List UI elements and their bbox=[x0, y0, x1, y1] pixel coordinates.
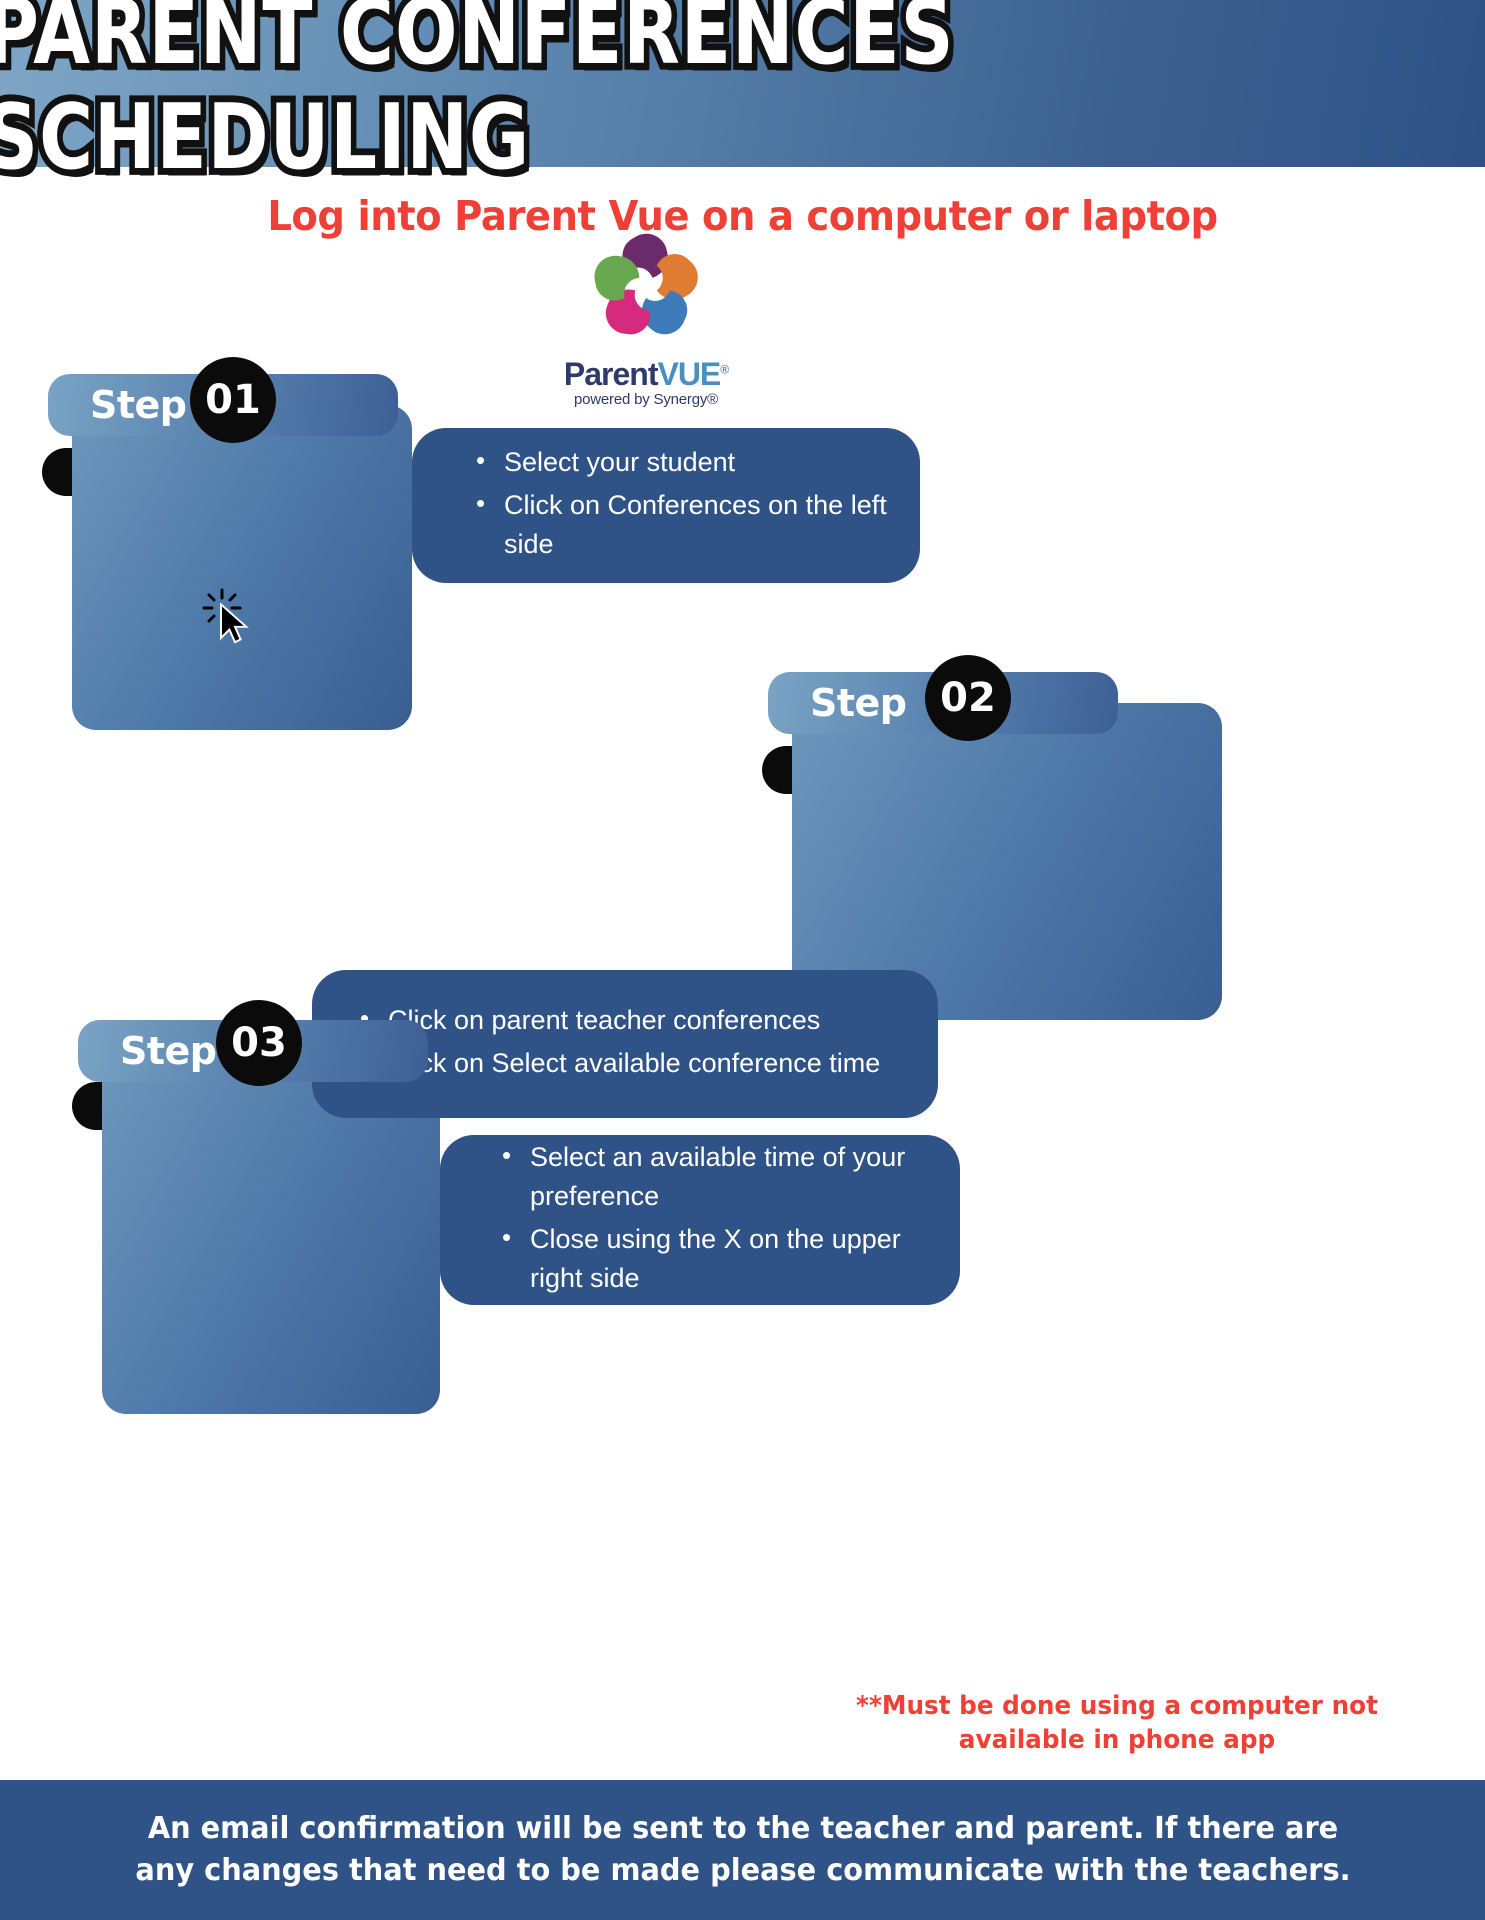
step-3-label: Step bbox=[120, 1029, 217, 1073]
step-3-bullet-2: Close using the X on the upper right sid… bbox=[502, 1220, 960, 1298]
step-3-number: 03 bbox=[231, 1020, 287, 1066]
page-title: PARENT CONFERENCES SCHEDULING bbox=[0, 0, 1485, 189]
step-3-bullet-1: Select an available time of your prefere… bbox=[502, 1138, 960, 1216]
step-1-callout: Select your student Click on Conferences… bbox=[412, 428, 920, 583]
footer-banner: An email confirmation will be sent to th… bbox=[0, 1780, 1485, 1920]
step-2-bullet-1: Click on parent teacher conferences bbox=[360, 1001, 880, 1040]
step-1-card bbox=[72, 405, 412, 730]
step-3-bullets: Select an available time of your prefere… bbox=[502, 1138, 960, 1303]
logo-word-parent: Parent bbox=[564, 356, 658, 392]
logo-tagline: powered by Synergy® bbox=[556, 391, 736, 408]
logo-word-vue: VUE bbox=[657, 356, 720, 392]
warning-note: **Must be done using a computer not avai… bbox=[804, 1690, 1431, 1758]
step-2-bullet-2: Click on Select available conference tim… bbox=[360, 1044, 880, 1083]
step-2-bullets: Click on parent teacher conferences Clic… bbox=[360, 1001, 880, 1087]
step-1-label: Step bbox=[90, 383, 187, 427]
step-2-number: 02 bbox=[940, 675, 996, 721]
step-1-bullet-2: Click on Conferences on the left side bbox=[476, 486, 920, 564]
step-1-badge: 01 bbox=[190, 357, 276, 443]
step-2-badge: 02 bbox=[925, 655, 1011, 741]
step-1-bullet-1: Select your student bbox=[476, 443, 920, 482]
logo-registered-mark: ® bbox=[720, 362, 728, 376]
step-3-badge: 03 bbox=[216, 1000, 302, 1086]
parentvue-pinwheel-icon bbox=[581, 222, 711, 352]
parentvue-logo: ParentVUE® powered by Synergy® bbox=[556, 222, 736, 408]
subtitle: Log into Parent Vue on a computer or lap… bbox=[45, 192, 1441, 240]
step-2-label: Step bbox=[810, 681, 907, 725]
header-banner: PARENT CONFERENCES SCHEDULING bbox=[0, 0, 1485, 167]
logo-wordmark: ParentVUE® bbox=[556, 356, 736, 393]
mouse-cursor-icon bbox=[218, 603, 252, 645]
step-3-callout: Select an available time of your prefere… bbox=[440, 1135, 960, 1305]
footer-text: An email confirmation will be sent to th… bbox=[114, 1808, 1372, 1892]
step-1-bullets: Select your student Click on Conferences… bbox=[476, 443, 920, 568]
step-1-number: 01 bbox=[205, 377, 261, 423]
